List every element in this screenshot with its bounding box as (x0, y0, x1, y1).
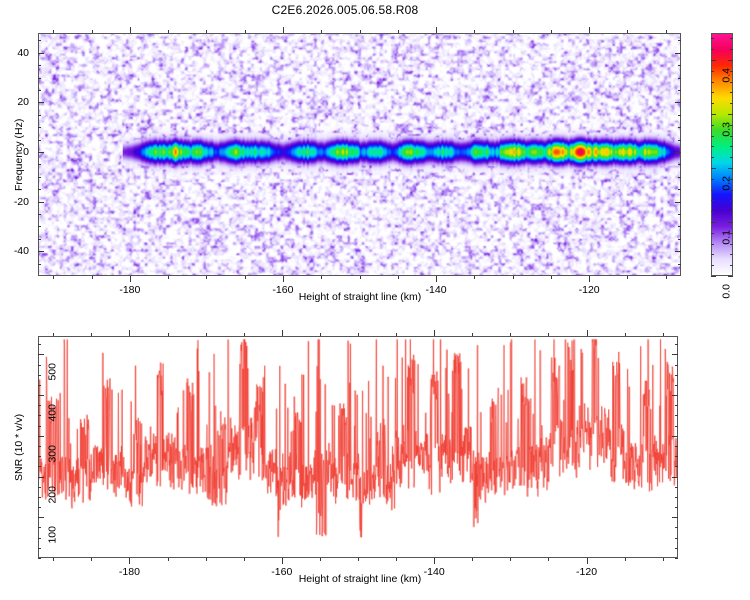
axis-tick (678, 164, 681, 165)
axis-tick (206, 30, 207, 33)
axis-tick (206, 333, 207, 336)
axis-tick (678, 127, 681, 128)
axis-tick (589, 27, 590, 33)
axis-tick (38, 202, 44, 203)
colorbar-tick-label: 0.0 (721, 284, 733, 299)
axis-tick (91, 558, 92, 561)
colorbar-tick (711, 136, 714, 137)
axis-tick (360, 30, 361, 33)
colorbar-tick (730, 157, 733, 158)
colorbar-tick (711, 146, 714, 147)
axis-tick (321, 30, 322, 33)
axis-tick (675, 405, 678, 406)
axis-tick (244, 333, 245, 336)
snr-x-tick-label: -180 (119, 566, 140, 578)
axis-tick (678, 115, 681, 116)
colorbar-tick-label: 0.3 (721, 122, 733, 137)
axis-tick (474, 276, 475, 279)
axis-tick (358, 333, 359, 336)
axis-tick (320, 558, 321, 561)
axis-tick (168, 333, 169, 336)
axis-tick (513, 30, 514, 33)
axis-tick (663, 558, 664, 561)
axis-tick (245, 30, 246, 33)
axis-tick (245, 276, 246, 279)
colorbar-tick (711, 254, 714, 255)
axis-tick (168, 558, 169, 561)
axis-tick (675, 365, 678, 366)
colorbar-tick (711, 60, 716, 61)
axis-tick (675, 102, 681, 103)
axis-tick (168, 276, 169, 279)
axis-tick (672, 477, 678, 478)
colorbar-tick (711, 211, 714, 212)
colorbar-tick-label: 0.1 (721, 230, 733, 245)
axis-tick (675, 53, 681, 54)
snr-x-axis-title: Height of straight line (km) (299, 573, 422, 585)
axis-tick (53, 333, 54, 336)
axis-tick (625, 558, 626, 561)
snr-y-tick-label: 400 (47, 404, 59, 422)
axis-tick (38, 264, 41, 265)
axis-tick (244, 558, 245, 561)
axis-tick (627, 276, 628, 279)
colorbar-tick (711, 103, 714, 104)
axis-tick (627, 30, 628, 33)
axis-tick (38, 385, 41, 386)
axis-tick (678, 40, 681, 41)
axis-tick (130, 27, 131, 33)
axis-tick (396, 558, 397, 561)
axis-tick (38, 251, 44, 252)
axis-tick (38, 487, 41, 488)
axis-tick (91, 333, 92, 336)
colorbar-tick (711, 157, 714, 158)
colorbar-tick (711, 190, 714, 191)
axis-tick (474, 30, 475, 33)
axis-tick (38, 517, 44, 518)
axis-tick (206, 558, 207, 561)
figure-title: C2E6.2026.005.06.58.R08 (0, 3, 690, 17)
axis-tick (38, 40, 41, 41)
axis-tick (675, 415, 678, 416)
axis-tick (678, 78, 681, 79)
colorbar-tick (711, 179, 714, 180)
spectrogram-canvas (39, 34, 680, 275)
axis-tick (38, 239, 41, 240)
colorbar-tick (730, 254, 733, 255)
axis-tick (38, 436, 44, 437)
axis-tick (320, 333, 321, 336)
axis-tick (38, 415, 41, 416)
axis-tick (675, 487, 678, 488)
colorbar-tick (711, 71, 714, 72)
snr-plot (38, 336, 678, 558)
axis-tick (675, 538, 678, 539)
axis-tick (666, 276, 667, 279)
axis-tick (589, 276, 590, 282)
axis-tick (38, 177, 41, 178)
axis-tick (283, 27, 284, 33)
axis-tick (675, 251, 681, 252)
axis-tick (678, 214, 681, 215)
axis-tick (38, 538, 41, 539)
axis-tick (678, 264, 681, 265)
axis-tick (675, 497, 678, 498)
axis-tick (434, 330, 435, 336)
colorbar-tick (711, 222, 716, 223)
spectrogram-x-axis-title: Height of straight line (km) (299, 291, 422, 303)
axis-tick (675, 507, 678, 508)
snr-y-tick-label: 300 (47, 445, 59, 463)
colorbar-tick (711, 125, 714, 126)
spectrogram-x-tick-label: -160 (272, 284, 293, 296)
axis-tick (678, 189, 681, 190)
axis-tick (436, 276, 437, 282)
spectrogram-y-tick-label: -40 (14, 245, 29, 257)
axis-tick (678, 239, 681, 240)
colorbar-tick (711, 276, 716, 277)
colorbar-tick (730, 38, 733, 39)
axis-tick (321, 276, 322, 279)
axis-tick (38, 446, 41, 447)
colorbar-tick (730, 146, 733, 147)
axis-tick (38, 152, 44, 153)
axis-tick (38, 527, 41, 528)
spectrogram-y-tick-label: 20 (17, 96, 29, 108)
axis-tick (672, 517, 678, 518)
axis-tick (678, 140, 681, 141)
colorbar-tick (730, 49, 733, 50)
axis-tick (38, 189, 41, 190)
axis-tick (472, 558, 473, 561)
axis-tick (38, 405, 41, 406)
axis-tick (675, 202, 681, 203)
colorbar-tick (728, 114, 733, 115)
colorbar-tick (730, 265, 733, 266)
axis-tick (675, 152, 681, 153)
axis-tick (675, 558, 678, 559)
axis-tick (675, 456, 678, 457)
axis-tick (38, 214, 41, 215)
axis-tick (672, 395, 678, 396)
axis-tick (168, 30, 169, 33)
axis-tick (38, 395, 44, 396)
axis-tick (551, 30, 552, 33)
axis-tick (283, 276, 284, 282)
snr-x-tick-label: -160 (271, 566, 292, 578)
axis-tick (38, 426, 41, 427)
axis-tick (548, 333, 549, 336)
colorbar-tick (728, 60, 733, 61)
axis-tick (38, 164, 41, 165)
axis-tick (396, 333, 397, 336)
axis-tick (675, 344, 678, 345)
spectrogram-y-tick-label: 40 (17, 47, 29, 59)
axis-tick (38, 115, 41, 116)
axis-tick (675, 466, 678, 467)
axis-tick (675, 527, 678, 528)
axis-tick (672, 354, 678, 355)
spectrogram-x-tick-label: -180 (119, 284, 140, 296)
colorbar-tick (730, 200, 733, 201)
axis-tick (38, 507, 41, 508)
axis-tick (358, 558, 359, 561)
axis-tick (398, 276, 399, 279)
axis-tick (53, 30, 54, 33)
colorbar-tick (730, 211, 733, 212)
colorbar-tick (728, 276, 733, 277)
axis-tick (360, 276, 361, 279)
axis-tick (666, 30, 667, 33)
axis-tick (38, 53, 44, 54)
axis-tick (92, 30, 93, 33)
axis-tick (434, 558, 435, 564)
axis-tick (678, 177, 681, 178)
axis-tick (398, 30, 399, 33)
axis-tick (38, 548, 41, 549)
axis-tick (678, 226, 681, 227)
axis-tick (548, 558, 549, 561)
colorbar-tick (730, 103, 733, 104)
axis-tick (38, 497, 41, 498)
snr-canvas (39, 337, 677, 557)
axis-tick (282, 330, 283, 336)
axis-tick (38, 65, 41, 66)
snr-y-tick-label: 500 (47, 363, 59, 381)
colorbar-tick-label: 0.2 (721, 176, 733, 191)
spectrogram-plot (38, 33, 681, 276)
colorbar-tick (711, 233, 714, 234)
axis-tick (38, 466, 41, 467)
axis-tick (672, 436, 678, 437)
axis-tick (510, 333, 511, 336)
axis-tick (130, 276, 131, 282)
axis-tick (587, 558, 588, 564)
spectrogram-y-axis-title: Frequency (Hz) (13, 118, 25, 190)
axis-tick (663, 333, 664, 336)
axis-tick (436, 27, 437, 33)
snr-y-tick-label: 200 (47, 486, 59, 504)
axis-tick (551, 276, 552, 279)
colorbar-tick (711, 168, 716, 169)
axis-tick (625, 333, 626, 336)
axis-tick (513, 276, 514, 279)
axis-tick (38, 127, 41, 128)
axis-tick (129, 330, 130, 336)
axis-tick (282, 558, 283, 564)
axis-tick (53, 558, 54, 561)
snr-x-tick-label: -120 (576, 566, 597, 578)
axis-tick (38, 456, 41, 457)
axis-tick (53, 276, 54, 279)
spectrogram-y-tick-label: -20 (14, 196, 29, 208)
axis-tick (38, 226, 41, 227)
spectrogram-x-tick-label: -140 (426, 284, 447, 296)
colorbar-tick (711, 200, 714, 201)
colorbar-tick (711, 49, 714, 50)
axis-tick (38, 558, 41, 559)
axis-tick (38, 354, 44, 355)
axis-tick (38, 90, 41, 91)
colorbar-tick (730, 92, 733, 93)
spectrogram-x-tick-label: -120 (579, 284, 600, 296)
axis-tick (678, 90, 681, 91)
axis-tick (675, 426, 678, 427)
axis-tick (38, 344, 41, 345)
axis-tick (38, 140, 41, 141)
axis-tick (510, 558, 511, 561)
colorbar-tick (728, 168, 733, 169)
colorbar-tick (711, 82, 714, 83)
axis-tick (587, 330, 588, 336)
axis-tick (675, 446, 678, 447)
snr-x-tick-label: -140 (424, 566, 445, 578)
colorbar-tick (711, 38, 714, 39)
axis-tick (38, 477, 44, 478)
colorbar-tick (711, 265, 714, 266)
axis-tick (38, 365, 41, 366)
axis-tick (472, 333, 473, 336)
snr-y-axis-title: SNR (10 * v/v) (13, 413, 25, 480)
colorbar-tick (711, 244, 714, 245)
colorbar-tick (711, 114, 716, 115)
snr-y-tick-label: 100 (47, 526, 59, 544)
colorbar-tick (711, 92, 714, 93)
axis-tick (675, 548, 678, 549)
axis-tick (675, 375, 678, 376)
colorbar-tick-label: 0.4 (721, 68, 733, 83)
axis-tick (38, 102, 44, 103)
axis-tick (206, 276, 207, 279)
axis-tick (678, 65, 681, 66)
axis-tick (129, 558, 130, 564)
axis-tick (92, 276, 93, 279)
colorbar-tick (728, 222, 733, 223)
axis-tick (38, 375, 41, 376)
axis-tick (675, 385, 678, 386)
axis-tick (38, 78, 41, 79)
